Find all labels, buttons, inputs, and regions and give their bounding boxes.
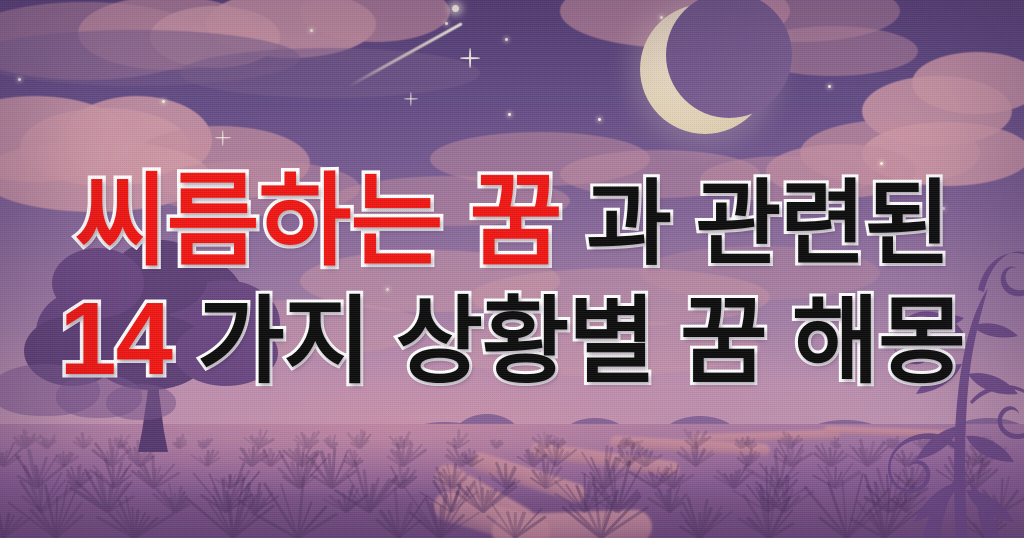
grass-tuft bbox=[200, 482, 267, 538]
headline-keyword-primary: 씨름하는 bbox=[75, 166, 443, 278]
dream-interpretation-banner: 씨름하는 꿈 과 관련된 14 가지 상황별 꿈 해몽 bbox=[0, 0, 1024, 538]
crescent-moon bbox=[640, 4, 770, 134]
grass-tuft bbox=[273, 478, 323, 538]
grass-tuft bbox=[479, 438, 512, 448]
grass-tuft bbox=[404, 479, 477, 538]
grass-tuft bbox=[11, 480, 101, 538]
headline-line-1-suffix: 과 관련된 bbox=[561, 172, 949, 276]
grass-tuft bbox=[741, 492, 798, 538]
headline-line-1: 씨름하는 꿈 과 관련된 bbox=[0, 172, 1024, 273]
grass-tuft bbox=[737, 437, 764, 448]
grass-tuft bbox=[653, 463, 694, 488]
headline: 씨름하는 꿈 과 관련된 14 가지 상황별 꿈 해몽 bbox=[0, 172, 1024, 390]
headline-line-2: 14 가지 상황별 꿈 해몽 bbox=[0, 287, 1024, 390]
headline-line-2-suffix: 가지 상황별 꿈 해몽 bbox=[172, 289, 965, 395]
grass-tuft bbox=[679, 443, 714, 466]
grass-tuft bbox=[92, 495, 175, 538]
grass-tuft bbox=[661, 499, 740, 538]
grass-tuft bbox=[474, 502, 556, 538]
headline-keyword-dream: 꿈 bbox=[469, 166, 561, 278]
grass-tuft bbox=[350, 431, 371, 448]
grass-tuft bbox=[571, 477, 630, 538]
headline-count: 14 bbox=[59, 281, 172, 396]
